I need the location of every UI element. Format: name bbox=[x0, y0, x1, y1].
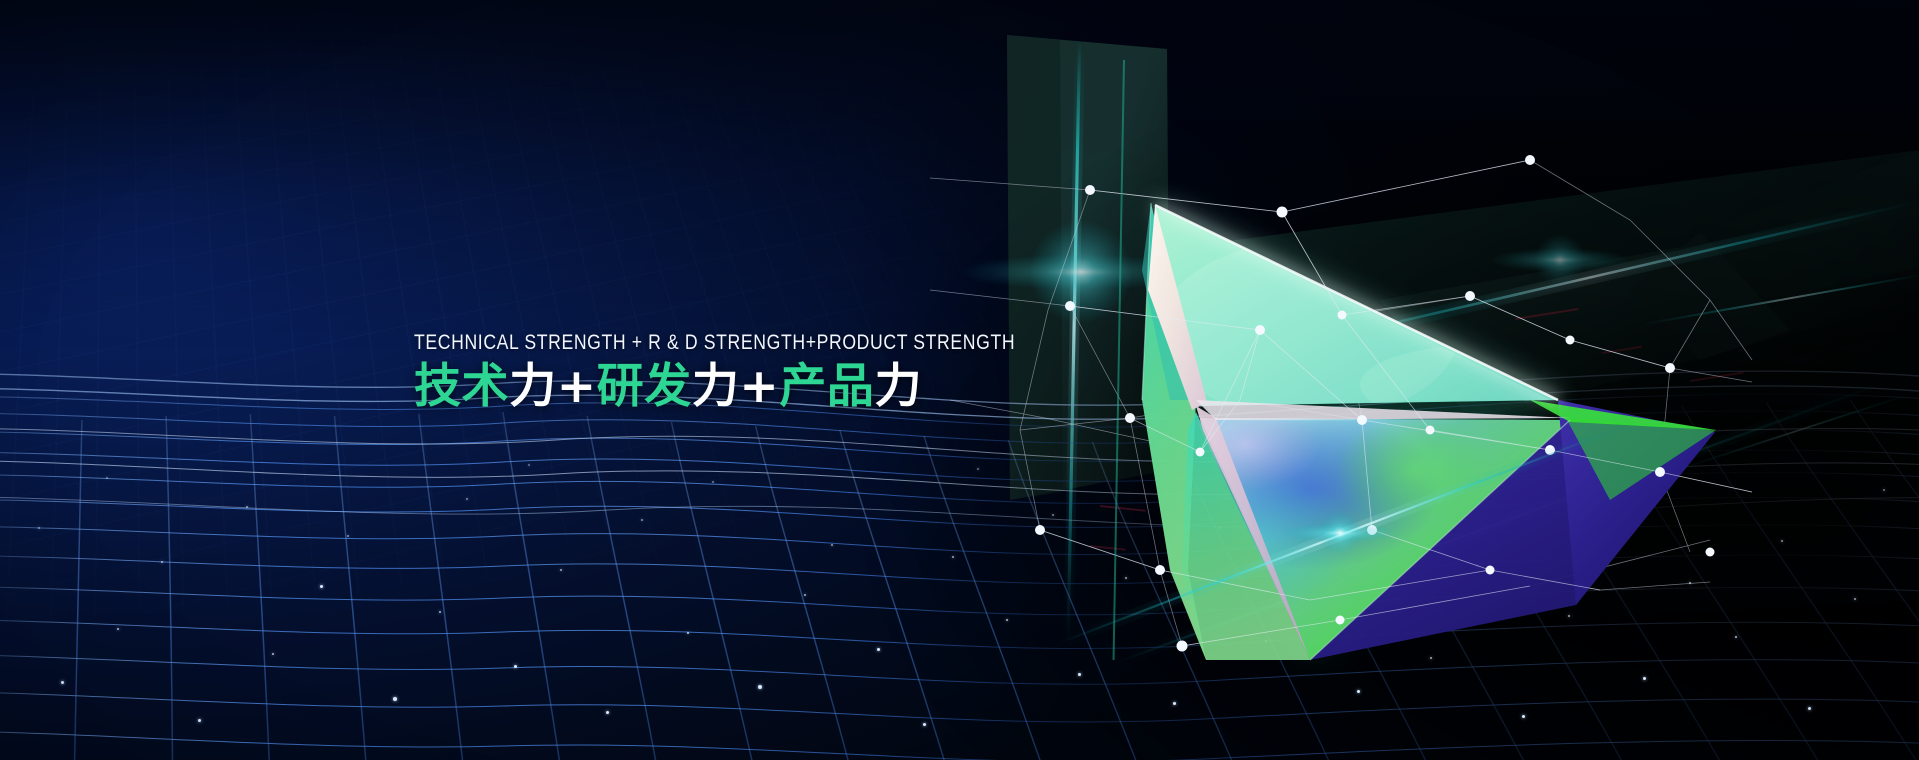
hero-eyebrow-english: TECHNICAL STRENGTH + R & D STRENGTH+PROD… bbox=[414, 332, 1015, 354]
hero-banner: TECHNICAL STRENGTH + R & D STRENGTH+PROD… bbox=[0, 0, 1919, 760]
hero-headline-chinese: 技术力+研发力+产品力 bbox=[414, 362, 1147, 412]
headline-seg-2: + bbox=[557, 359, 597, 414]
headline-seg-6: 产品 bbox=[779, 359, 874, 414]
headline-seg-0: 技术 bbox=[414, 359, 509, 414]
headline-seg-1: 力 bbox=[509, 359, 557, 414]
headline-seg-4: 力 bbox=[692, 359, 740, 414]
headline-seg-7: 力 bbox=[874, 359, 922, 414]
hero-text-block: TECHNICAL STRENGTH + R & D STRENGTH+PROD… bbox=[414, 332, 1147, 411]
headline-seg-3: 研发 bbox=[597, 359, 692, 414]
headline-seg-5: + bbox=[739, 359, 779, 414]
arrow-prism-graphic bbox=[1010, 100, 1770, 740]
